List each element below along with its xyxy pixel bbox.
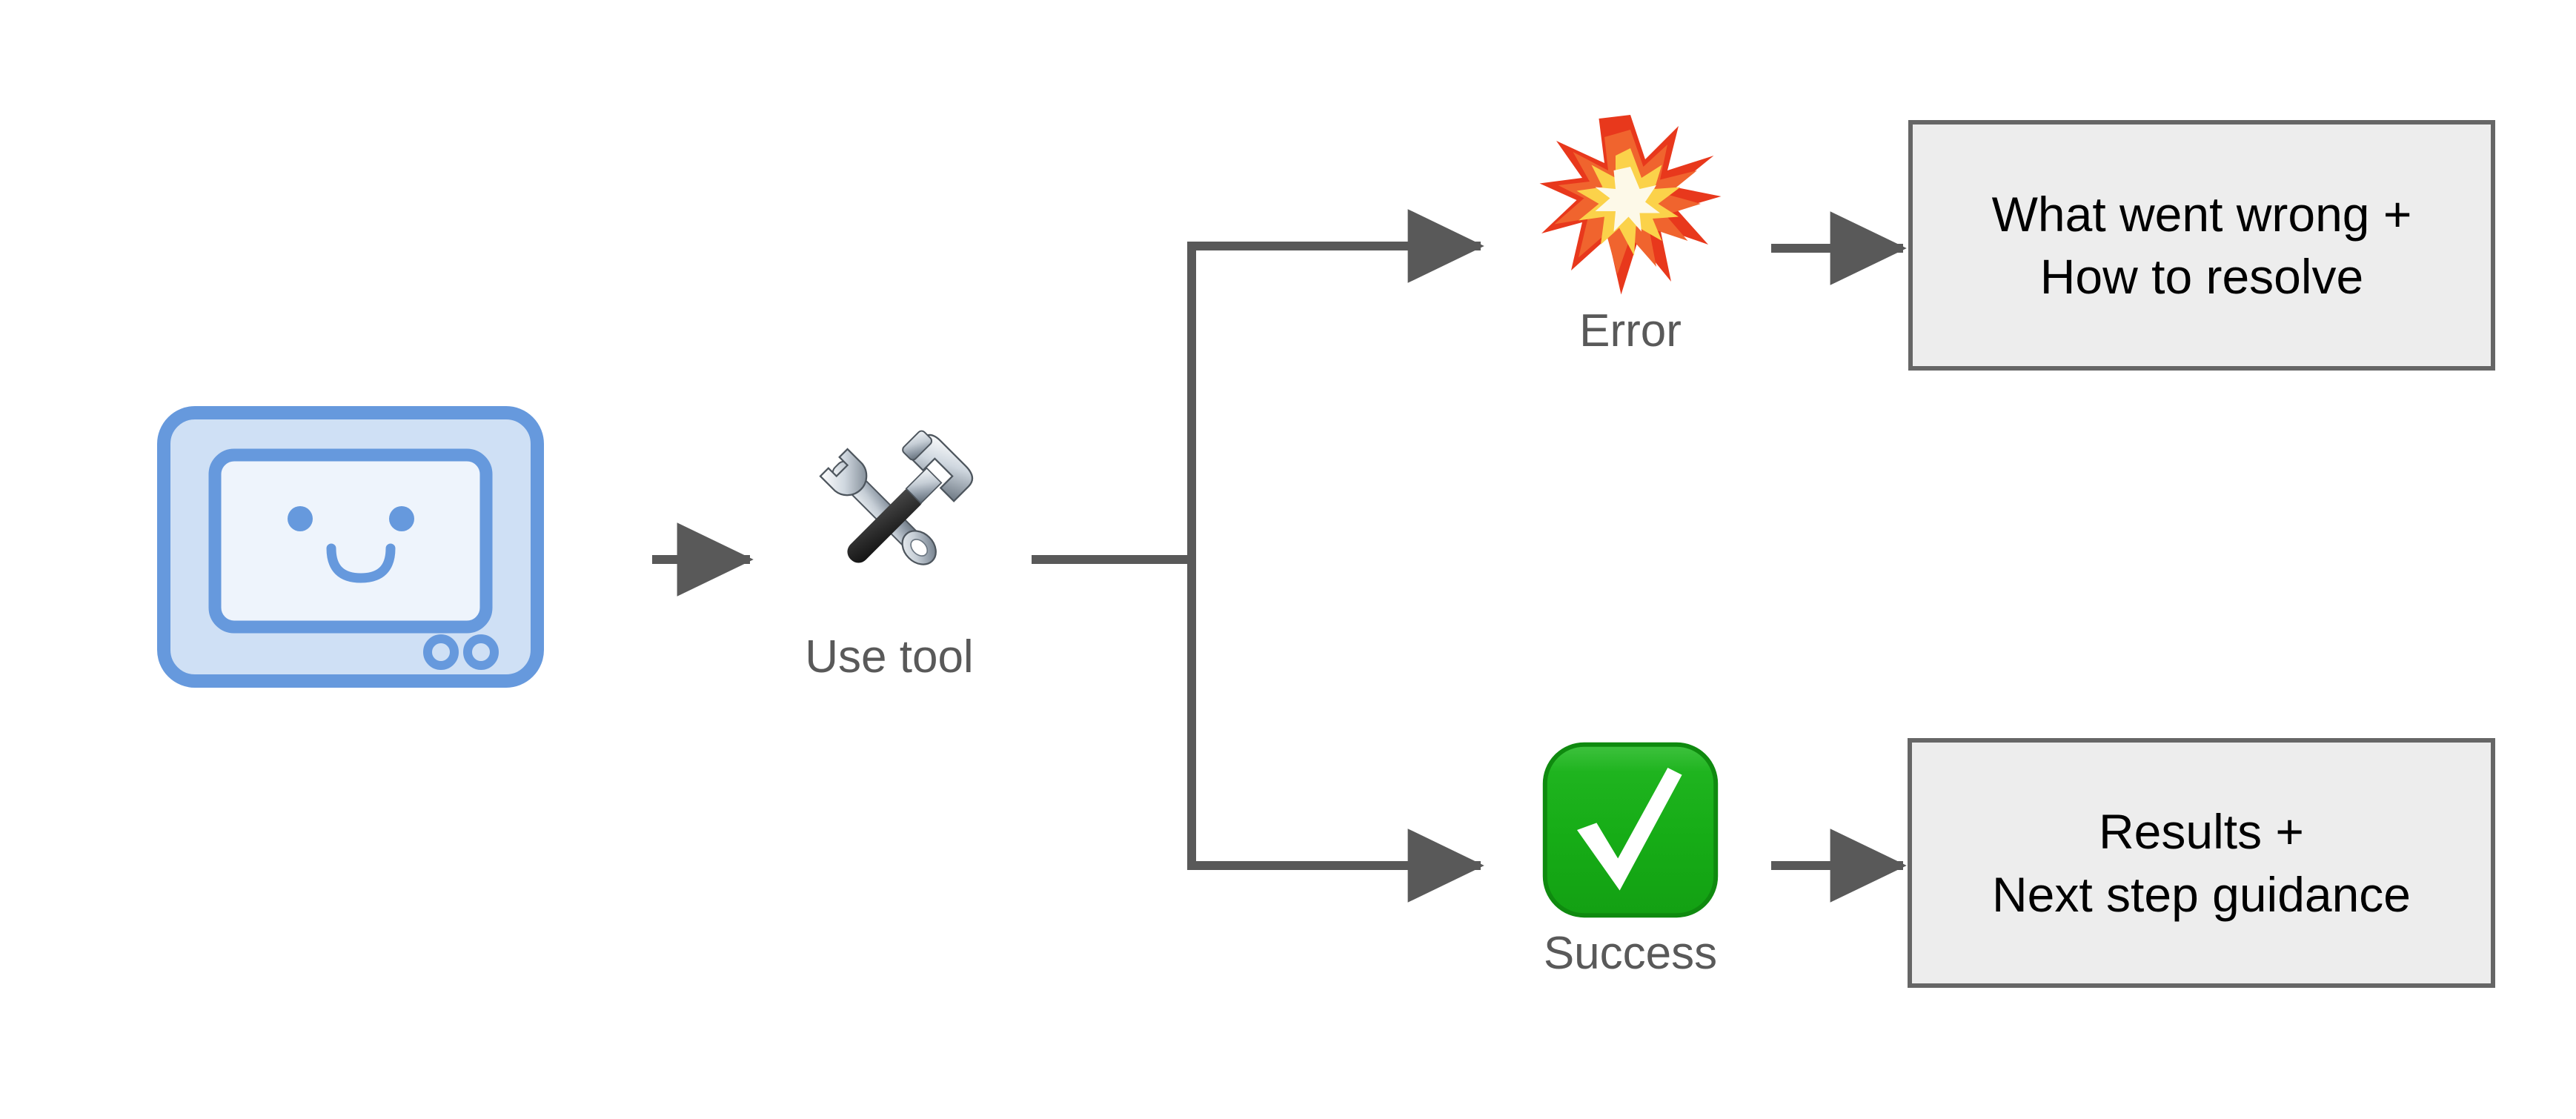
node-success: Success: [1453, 741, 1808, 977]
node-error: Error: [1453, 111, 1808, 355]
error-outcome-box: What went wrong + How to resolve: [1908, 120, 2495, 371]
node-label-use-tool: Use tool: [805, 633, 973, 681]
node-label-error: Error: [1579, 307, 1682, 355]
computer-smiley-icon: [157, 406, 544, 688]
success-outcome-text: Results + Next step guidance: [1977, 800, 2426, 926]
error-outcome-text: What went wrong + How to resolve: [1977, 183, 2427, 308]
node-label-success: Success: [1544, 929, 1717, 977]
node-use-tool: Use tool: [704, 415, 1075, 681]
collision-explosion-icon: [1538, 111, 1723, 296]
success-outcome-box: Results + Next step guidance: [1908, 738, 2495, 988]
white-check-mark-icon: [1541, 741, 1719, 919]
hammer-and-wrench-icon: [786, 415, 993, 622]
diagram-canvas: Use tool Error: [0, 0, 2576, 1119]
